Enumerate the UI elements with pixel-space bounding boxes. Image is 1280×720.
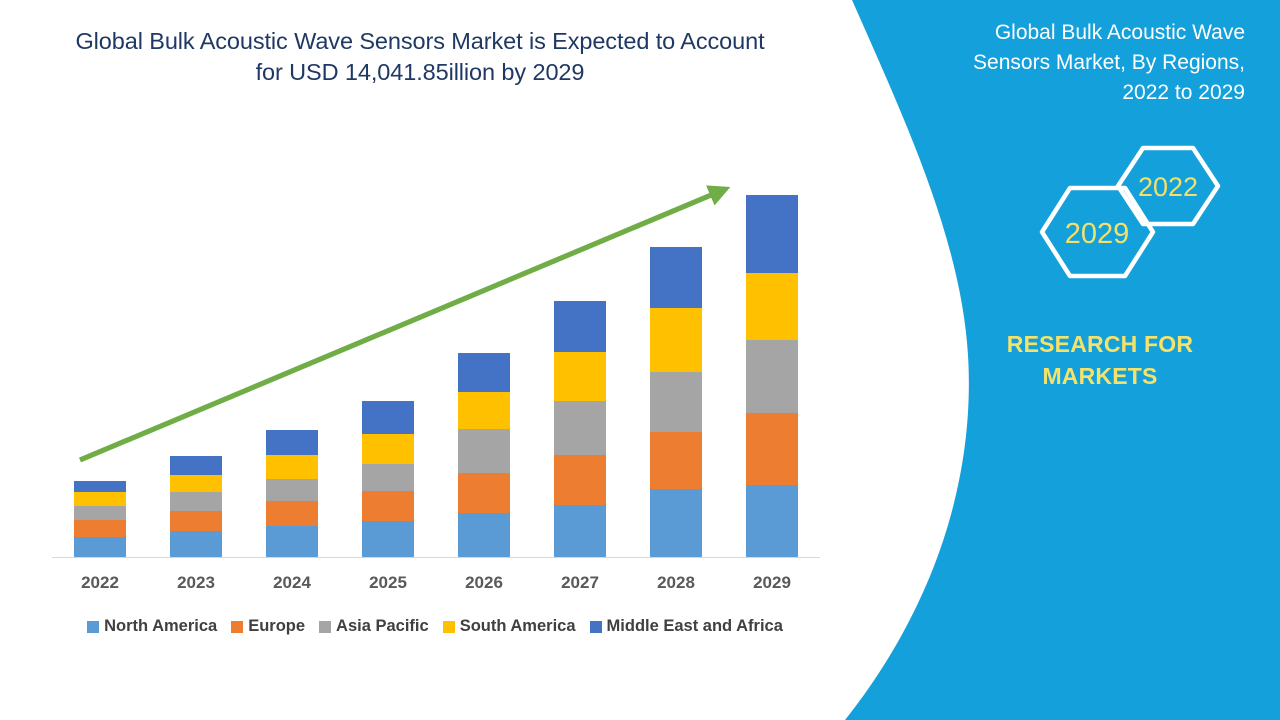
bar-segment bbox=[554, 401, 606, 455]
legend-item[interactable]: Europe bbox=[231, 617, 305, 636]
x-axis-labels: 20222023202420252026202720282029 bbox=[52, 573, 820, 593]
bar-segment bbox=[458, 353, 510, 393]
legend-item[interactable]: South America bbox=[443, 617, 576, 636]
bar-segment bbox=[170, 492, 222, 510]
bar-segment bbox=[746, 485, 798, 557]
bar-segment bbox=[74, 520, 126, 536]
legend-item[interactable]: Middle East and Africa bbox=[590, 617, 783, 636]
bar-segment bbox=[362, 401, 414, 434]
bar-segment bbox=[458, 429, 510, 473]
chart-legend: North AmericaEuropeAsia PacificSouth Ame… bbox=[40, 617, 830, 636]
bar-segment bbox=[74, 481, 126, 492]
bar-column-2022 bbox=[52, 150, 148, 557]
x-axis-label-2029: 2029 bbox=[724, 573, 820, 593]
bar-column-2026 bbox=[436, 150, 532, 557]
x-axis-label-2024: 2024 bbox=[244, 573, 340, 593]
bar-segment bbox=[746, 340, 798, 413]
legend-label: North America bbox=[104, 617, 217, 636]
bar-segment bbox=[266, 501, 318, 526]
bar-segment bbox=[170, 511, 222, 531]
bar-segment bbox=[746, 413, 798, 486]
bar-segment bbox=[746, 195, 798, 273]
bar-stack bbox=[650, 247, 702, 557]
legend-swatch-icon bbox=[231, 621, 243, 633]
bar-column-2025 bbox=[340, 150, 436, 557]
chart-title: Global Bulk Acoustic Wave Sensors Market… bbox=[60, 26, 780, 88]
bar-stack bbox=[362, 401, 414, 557]
bar-segment bbox=[362, 491, 414, 521]
legend-label: Asia Pacific bbox=[336, 617, 429, 636]
legend-label: South America bbox=[460, 617, 576, 636]
bar-segment bbox=[74, 492, 126, 506]
bar-segment bbox=[650, 432, 702, 489]
x-axis-label-2028: 2028 bbox=[628, 573, 724, 593]
bar-segment bbox=[170, 475, 222, 492]
bar-segment bbox=[266, 455, 318, 478]
bar-segment bbox=[74, 537, 126, 557]
bar-column-2027 bbox=[532, 150, 628, 557]
bar-stack bbox=[170, 456, 222, 557]
legend-item[interactable]: North America bbox=[87, 617, 217, 636]
bar-stack bbox=[746, 195, 798, 557]
chart-panel: Global Bulk Acoustic Wave Sensors Market… bbox=[0, 0, 850, 720]
legend-label: Europe bbox=[248, 617, 305, 636]
bar-segment bbox=[554, 505, 606, 557]
bar-segment bbox=[458, 392, 510, 429]
bar-segment bbox=[746, 273, 798, 340]
bar-segment bbox=[362, 521, 414, 557]
bar-column-2024 bbox=[244, 150, 340, 557]
bar-segment bbox=[650, 247, 702, 308]
legend-swatch-icon bbox=[590, 621, 602, 633]
bar-segment bbox=[362, 434, 414, 464]
bar-segment bbox=[650, 372, 702, 432]
bar-column-2028 bbox=[628, 150, 724, 557]
hexagon-2022-label: 2022 bbox=[1138, 172, 1198, 202]
x-axis-label-2022: 2022 bbox=[52, 573, 148, 593]
bar-column-2023 bbox=[148, 150, 244, 557]
hexagon-2029-label: 2029 bbox=[1065, 218, 1130, 250]
plot-area bbox=[52, 150, 820, 558]
legend-swatch-icon bbox=[87, 621, 99, 633]
x-axis-label-2026: 2026 bbox=[436, 573, 532, 593]
bar-segment bbox=[170, 531, 222, 557]
bar-segment bbox=[458, 473, 510, 514]
bar-stack bbox=[458, 353, 510, 557]
bar-segment bbox=[554, 455, 606, 504]
bar-column-2029 bbox=[724, 150, 820, 557]
bar-segment bbox=[362, 464, 414, 491]
brand-panel-content: Global Bulk Acoustic Wave Sensors Market… bbox=[930, 0, 1280, 720]
bar-segment bbox=[74, 506, 126, 521]
legend-swatch-icon bbox=[319, 621, 331, 633]
bar-stack bbox=[554, 301, 606, 557]
bar-segment bbox=[170, 456, 222, 474]
bar-segment bbox=[266, 479, 318, 501]
x-axis-label-2023: 2023 bbox=[148, 573, 244, 593]
bar-segment bbox=[554, 301, 606, 351]
bar-group bbox=[52, 150, 820, 557]
bar-segment bbox=[554, 352, 606, 401]
bar-stack bbox=[74, 481, 126, 557]
bar-stack bbox=[266, 430, 318, 557]
legend-label: Middle East and Africa bbox=[607, 617, 783, 636]
x-axis-label-2025: 2025 bbox=[340, 573, 436, 593]
x-axis-label-2027: 2027 bbox=[532, 573, 628, 593]
x-axis-line bbox=[52, 557, 820, 558]
bar-segment bbox=[458, 513, 510, 557]
bar-segment bbox=[266, 430, 318, 455]
bar-segment bbox=[650, 308, 702, 372]
legend-item[interactable]: Asia Pacific bbox=[319, 617, 429, 636]
hexagon-group: 2022 2029 bbox=[975, 140, 1235, 300]
bar-segment bbox=[266, 526, 318, 557]
brand-panel-title: Global Bulk Acoustic Wave Sensors Market… bbox=[930, 18, 1270, 108]
bar-segment bbox=[650, 489, 702, 557]
legend-swatch-icon bbox=[443, 621, 455, 633]
brand-name: RESEARCH FORMARKETS bbox=[930, 328, 1270, 392]
